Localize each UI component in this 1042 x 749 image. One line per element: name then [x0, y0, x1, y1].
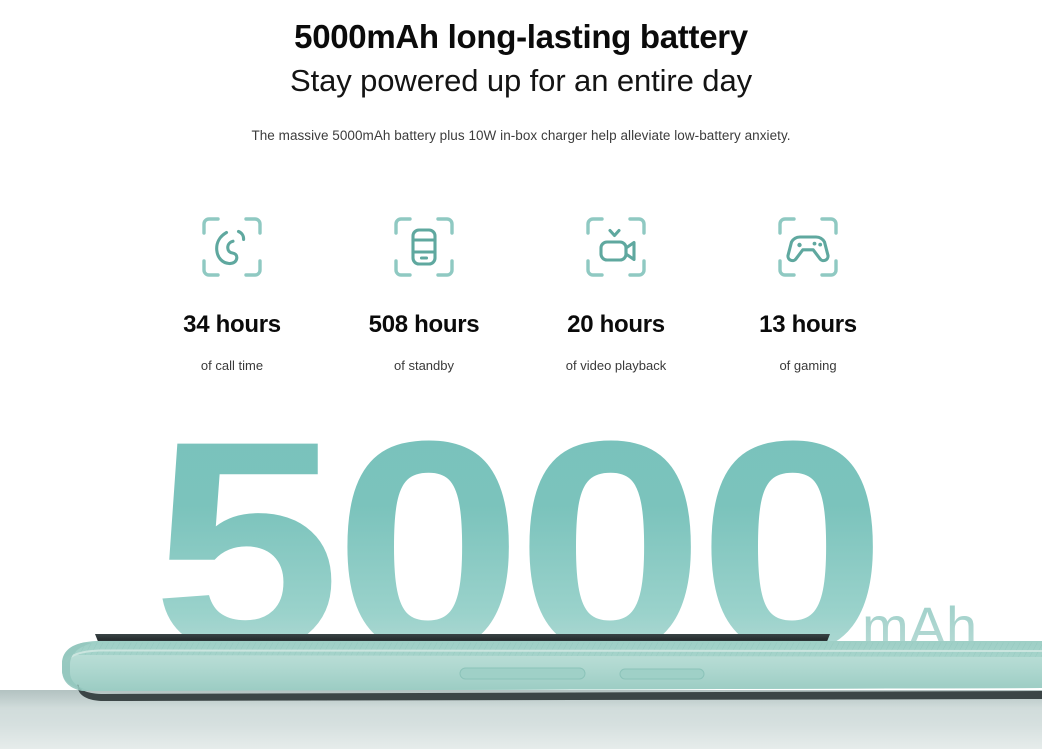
stat-icon-wrap: [520, 205, 712, 289]
stat-item-gaming: 13 hours of gaming: [712, 205, 904, 372]
product-image-stage: [0, 612, 1042, 749]
heading-block: 5000mAh long-lasting battery Stay powere…: [0, 0, 1042, 143]
page-description: The massive 5000mAh battery plus 10W in-…: [0, 101, 1042, 143]
phone-call-icon: [196, 211, 268, 283]
stat-value: 34 hours: [136, 313, 328, 337]
stat-icon-wrap: [328, 205, 520, 289]
stat-icon-wrap: [136, 205, 328, 289]
phone-standby-icon: [388, 211, 460, 283]
stat-label: of video playback: [520, 359, 712, 372]
stat-item-standby: 508 hours of standby: [328, 205, 520, 372]
page-subtitle: Stay powered up for an entire day: [0, 58, 1042, 101]
stat-value: 13 hours: [712, 313, 904, 337]
video-camera-icon: [580, 211, 652, 283]
stat-label: of call time: [136, 359, 328, 372]
stat-item-video-playback: 20 hours of video playback: [520, 205, 712, 372]
page-title: 5000mAh long-lasting battery: [0, 0, 1042, 58]
stat-value: 20 hours: [520, 313, 712, 337]
stat-label: of gaming: [712, 359, 904, 372]
phone-side-profile-image: [0, 612, 1042, 749]
stat-item-call-time: 34 hours of call time: [136, 205, 328, 372]
phone-body: [62, 641, 1042, 691]
volume-rocker-button[interactable]: [460, 668, 585, 679]
battery-stats-row: 34 hours of call time: [136, 205, 904, 372]
stat-icon-wrap: [712, 205, 904, 289]
stat-label: of standby: [328, 359, 520, 372]
battery-feature-page: 5000mAh long-lasting battery Stay powere…: [0, 0, 1042, 749]
power-button[interactable]: [620, 669, 704, 679]
gamepad-icon: [772, 211, 844, 283]
stat-value: 508 hours: [328, 313, 520, 337]
